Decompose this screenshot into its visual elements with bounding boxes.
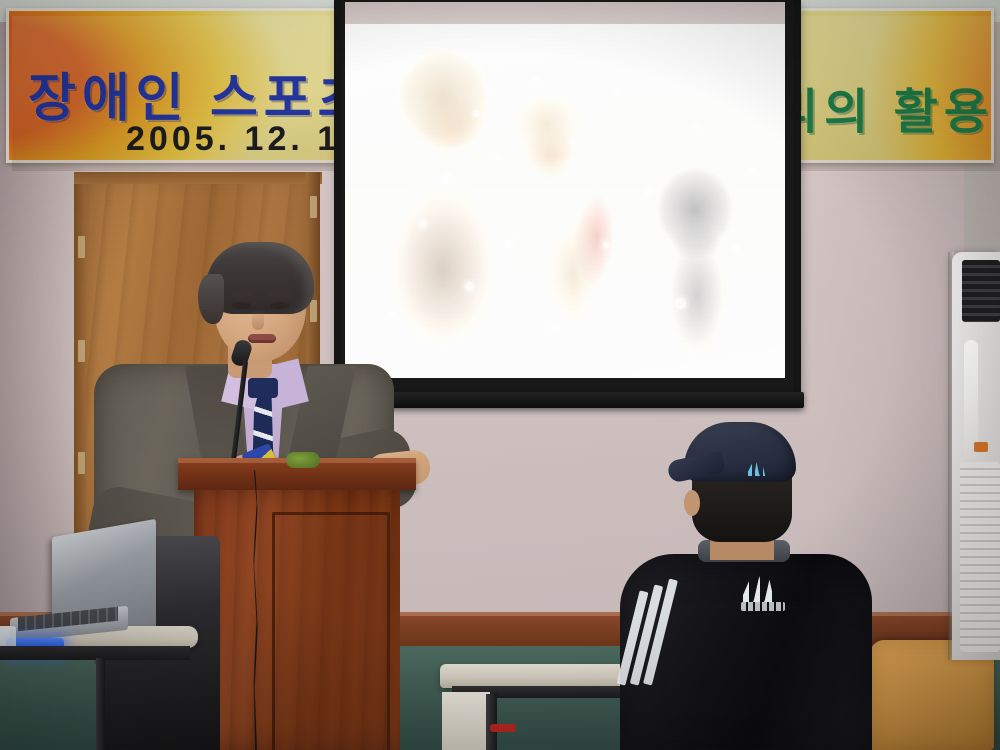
podium-front-panel (272, 512, 390, 750)
snowflake-icon (603, 242, 609, 248)
presenter-eye-right (270, 302, 289, 309)
snowflake-icon (441, 172, 453, 184)
snowflake-icon (731, 244, 740, 253)
snowflake-icon (495, 154, 501, 160)
air-conditioner-badge (974, 442, 988, 452)
screen-top-strip (345, 2, 785, 24)
snowflake-icon (569, 138, 576, 145)
banner-date: 2005. 12. 15 (126, 120, 363, 159)
door-frame-top (74, 172, 322, 184)
presenter-mouth (248, 334, 276, 343)
air-conditioner-louvers (960, 462, 1000, 652)
screen-rail-right (793, 0, 801, 402)
table-side-panel (442, 692, 490, 750)
table-apron-left (0, 646, 190, 660)
snowflake-icon (531, 76, 541, 86)
snowflake-icon (505, 238, 515, 248)
seminar-room-photo: 장애인 스포츠 원리의 활용 2005. 12. 15 (0, 0, 1000, 750)
table-leg-left (96, 658, 105, 750)
snowflake-icon (613, 88, 621, 96)
air-conditioner-vent-grille (962, 260, 1000, 322)
snowflake-icon (749, 166, 756, 173)
table-red-clamp[interactable] (490, 724, 516, 732)
attendee-ear (684, 490, 700, 516)
snowflake-icon (473, 110, 480, 117)
presenter-eye-left (232, 302, 251, 309)
presenter-nose (252, 310, 264, 330)
snowflake-icon (403, 64, 412, 73)
adidas-wordmark (741, 602, 785, 611)
snowflake-icon (551, 324, 559, 332)
podium-plant-decoration (286, 452, 320, 468)
presenter-tie-knot (248, 378, 278, 398)
door-hinge-icon (310, 196, 317, 218)
snowflake-icon (419, 220, 427, 228)
snowflake-icon (645, 186, 655, 196)
snowflake-icon (693, 122, 700, 129)
table-leg-right (486, 694, 497, 750)
seated-attendee (600, 412, 900, 750)
snowflake-icon (675, 298, 686, 309)
snowflake-icon (465, 282, 474, 291)
presenter-sideburn (198, 274, 224, 324)
